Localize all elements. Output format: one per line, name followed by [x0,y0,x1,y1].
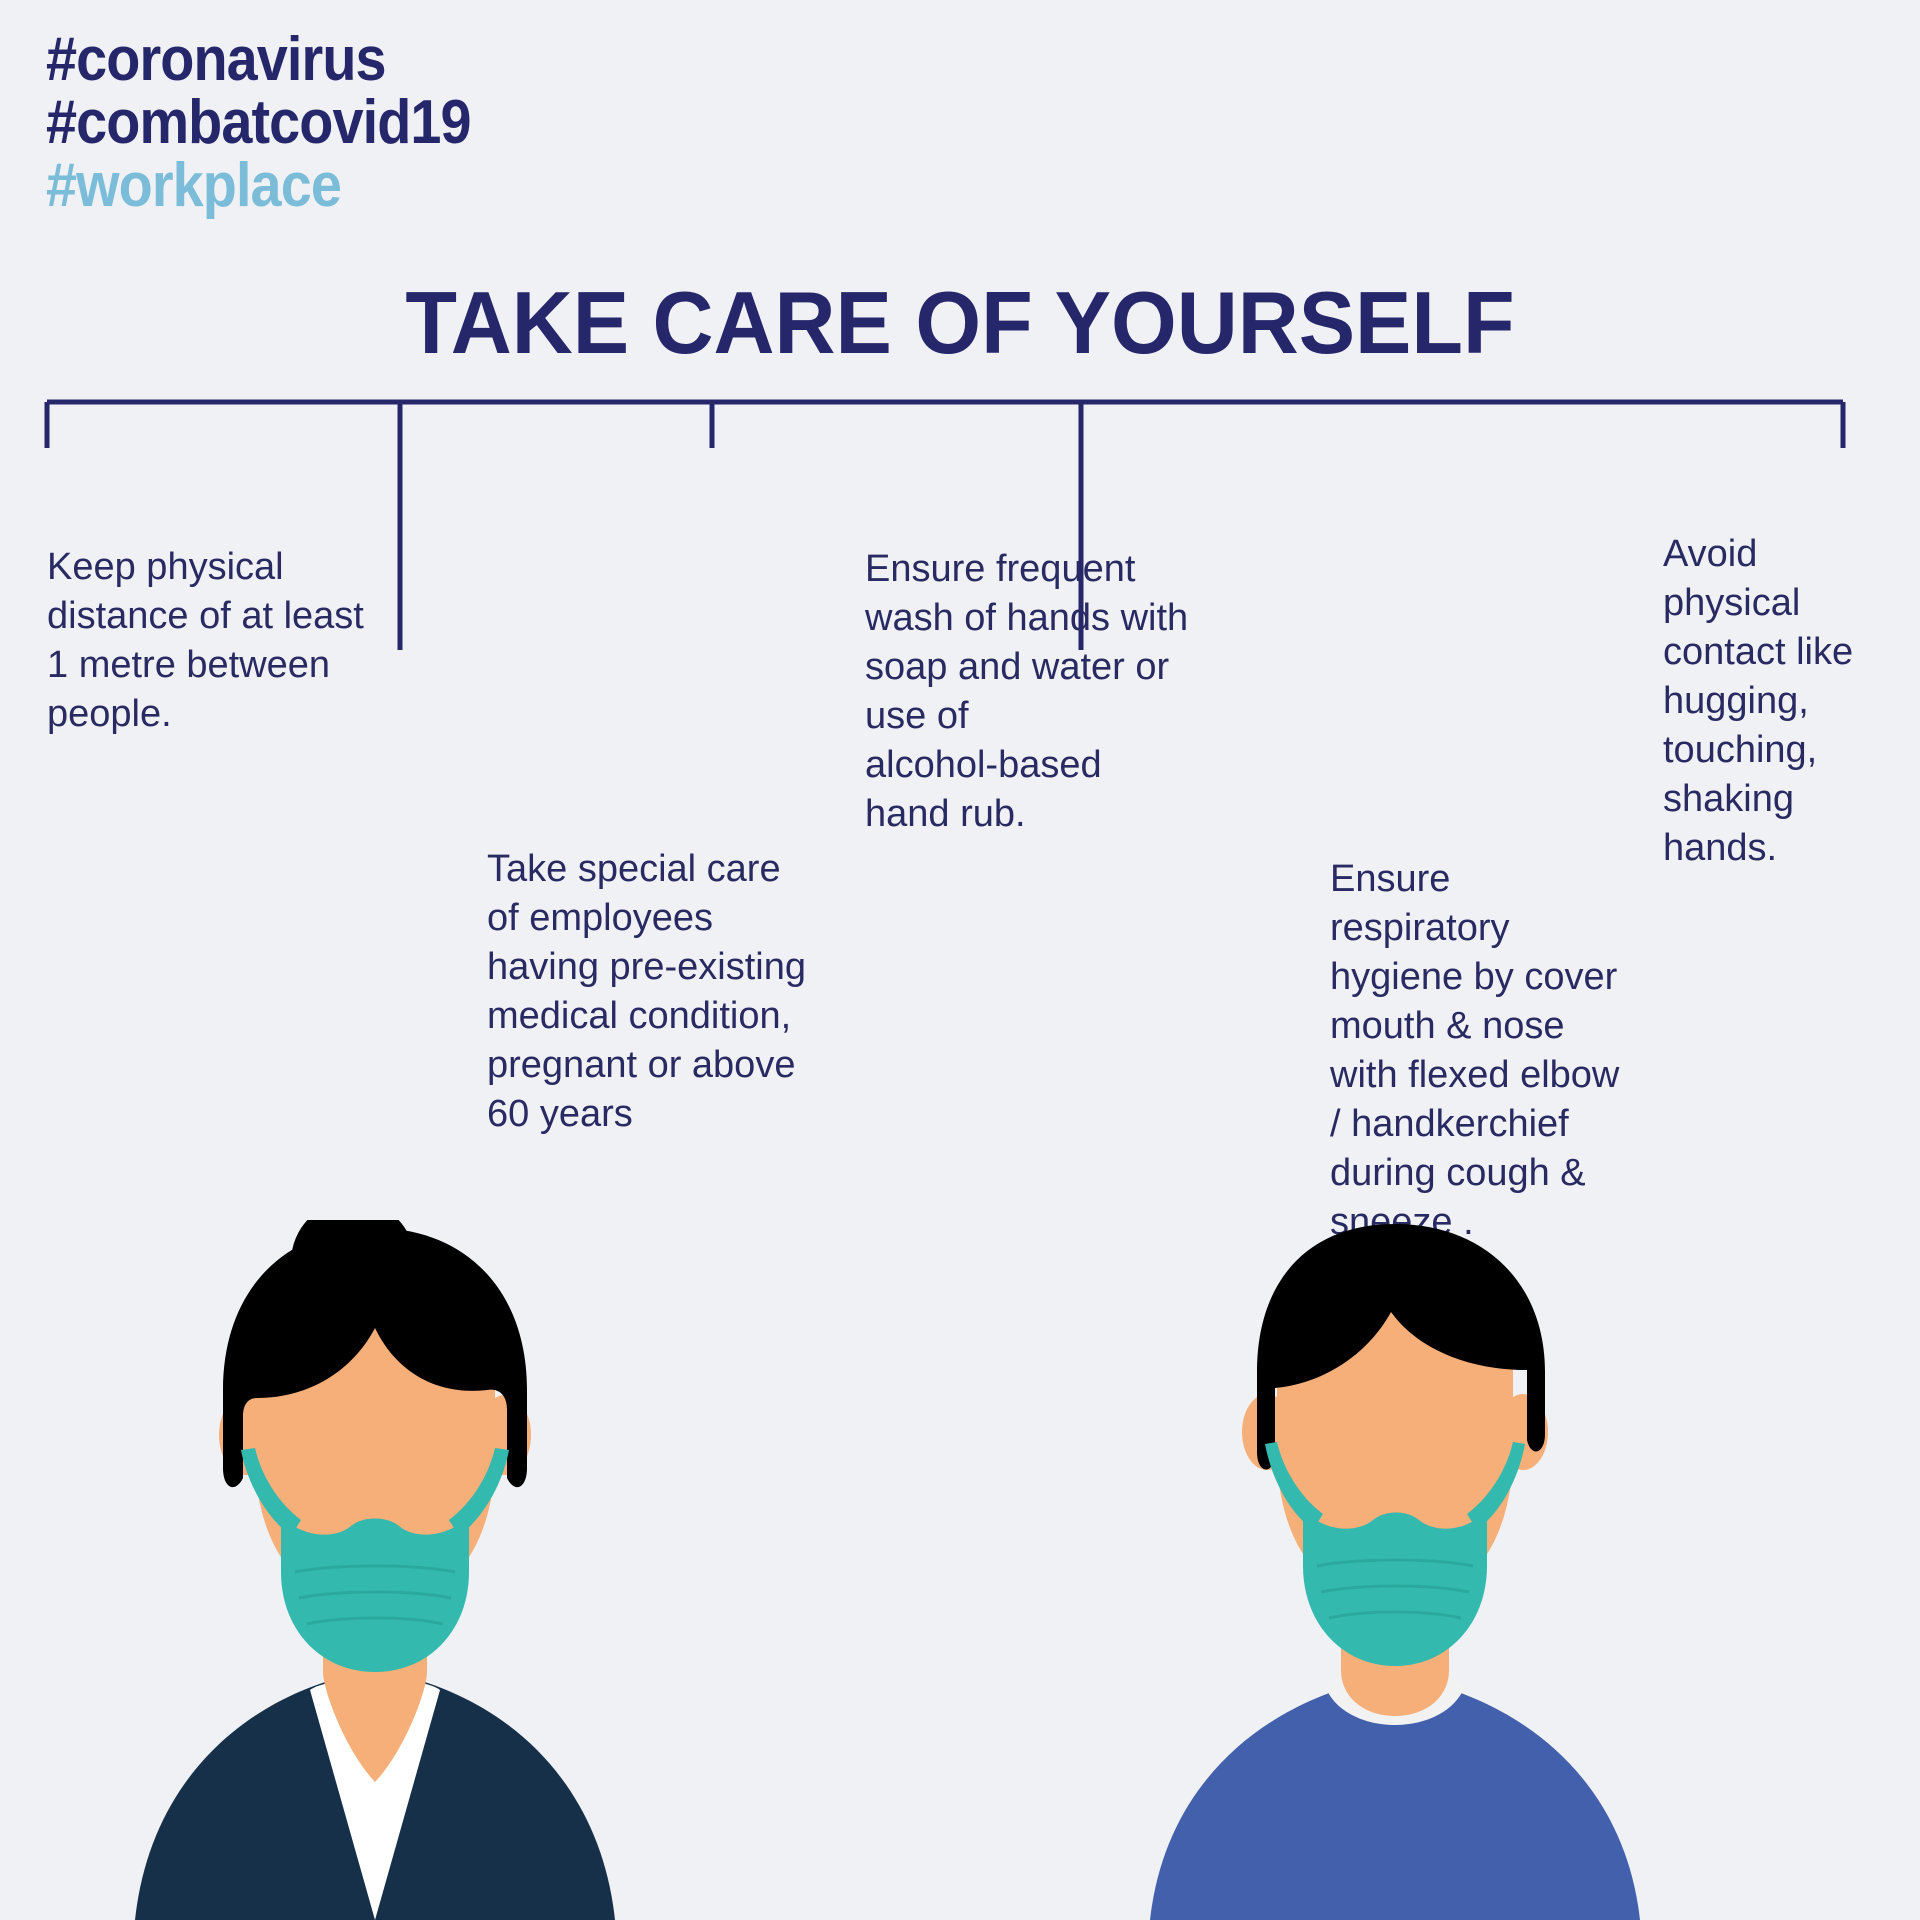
hashtag-group: #coronavirus #combatcovid19 #workplace [46,30,518,218]
tip-respiratory-hygiene: Ensure respiratory hygiene by cover mout… [1330,855,1640,1247]
woman-illustration [95,1220,655,1920]
infographic-root: #coronavirus #combatcovid19 #workplace T… [0,0,1920,1920]
tip-physical-distance: Keep physical distance of at least 1 met… [47,543,377,739]
man-illustration [1115,1220,1675,1920]
man-mask [1303,1510,1487,1666]
tip-hand-hygiene: Ensure frequent wash of hands with soap … [865,545,1195,839]
woman-mask [281,1516,469,1672]
hashtag-combatcovid19: #combatcovid19 [46,93,471,154]
tip-vulnerable-employees: Take special care of employees having pr… [487,845,827,1139]
tip-avoid-contact: Avoid physical contact like hugging, tou… [1663,530,1883,873]
hashtag-coronavirus: #coronavirus [46,30,471,91]
hashtag-workplace: #workplace [46,156,471,217]
page-title: TAKE CARE OF YOURSELF [38,272,1881,374]
